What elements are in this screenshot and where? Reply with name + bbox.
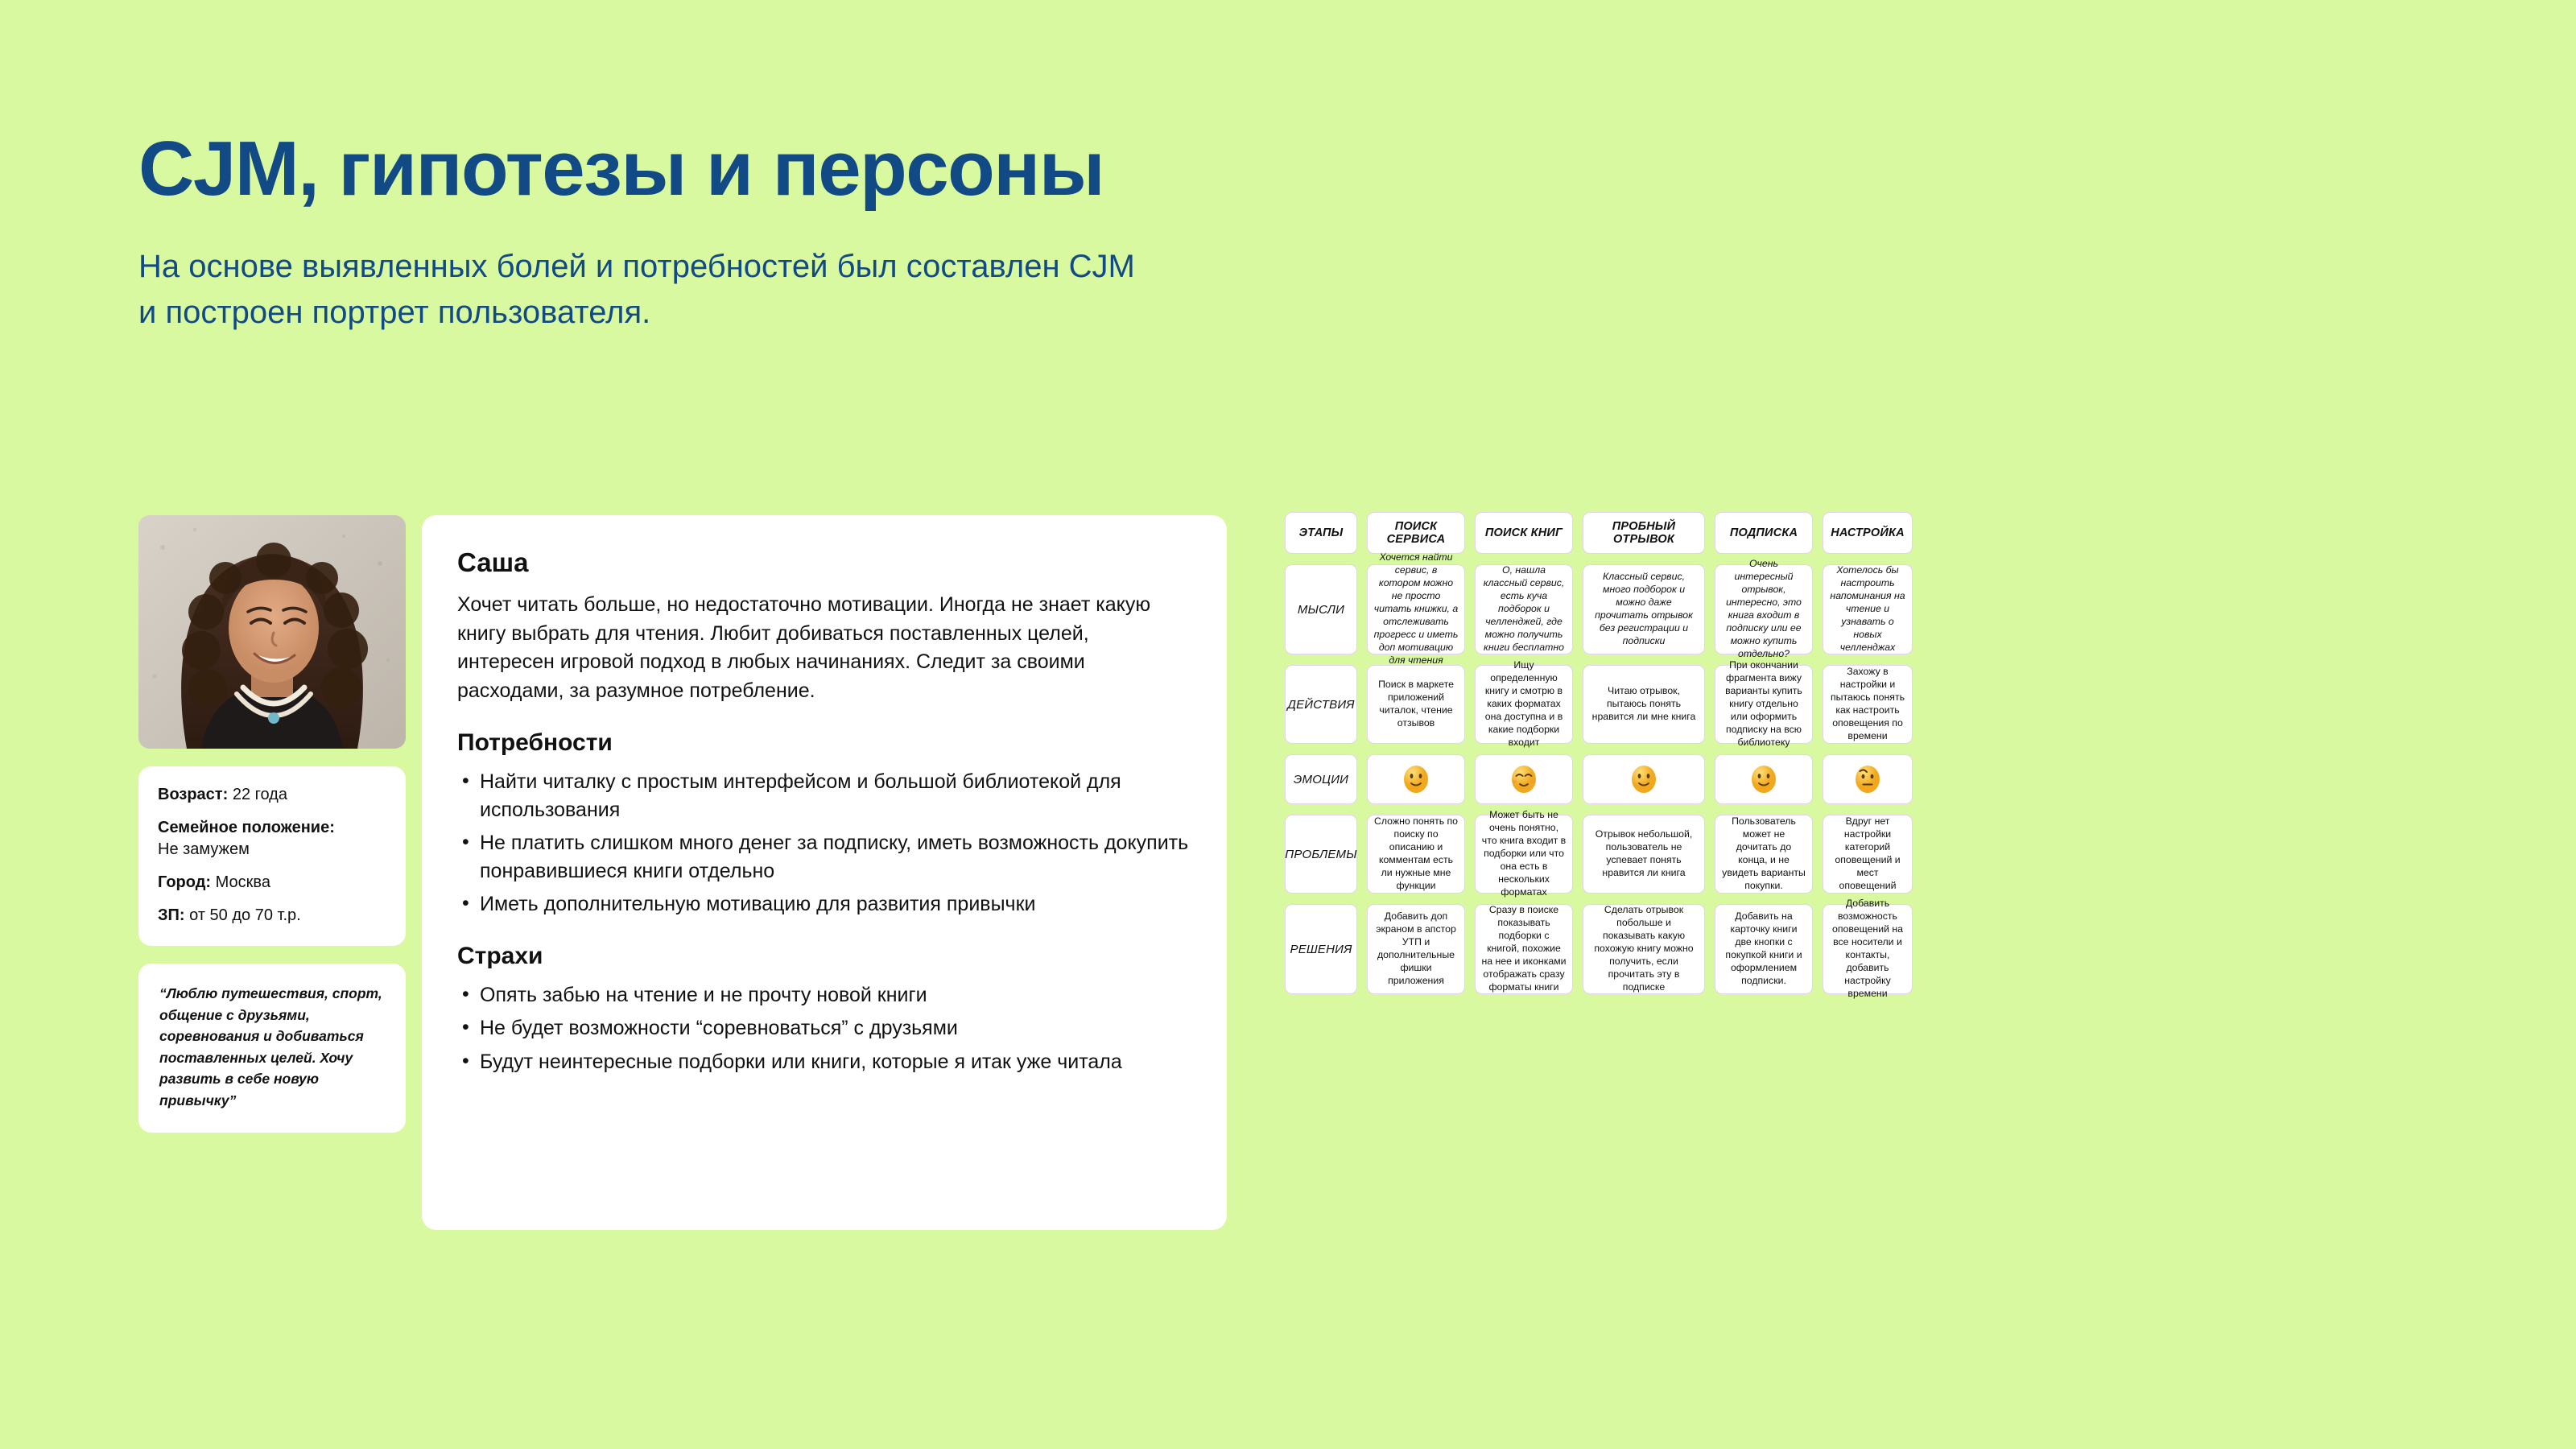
cjm-cell-solutions-3[interactable]: Добавить на карточку книги две кнопки с … [1715, 904, 1813, 994]
list-item: Опять забью на чтение и не прочту новой … [457, 981, 1191, 1009]
cjm-stage-3[interactable]: ПОДПИСКА [1715, 512, 1813, 554]
header: CJM, гипотезы и персоны На основе выявле… [138, 129, 1829, 335]
cjm-cell-emotions-4[interactable] [1823, 754, 1913, 804]
cjm-cell-emotions-1[interactable] [1475, 754, 1573, 804]
cjm-cell-problems-2[interactable]: Отрывок небольшой, пользователь не успев… [1583, 815, 1705, 894]
cjm-cell-actions-0[interactable]: Поиск в маркете приложений читалок, чтен… [1367, 665, 1465, 744]
list-item: Иметь дополнительную мотивацию для разви… [457, 890, 1191, 919]
fact-salary: ЗП: от 50 до 70 т.р. [158, 905, 386, 927]
cjm-cell-emotions-2[interactable] [1583, 754, 1705, 804]
cjm-cell-problems-4[interactable]: Вдруг нет настройки категорий оповещений… [1823, 815, 1913, 894]
relieved-face-icon [1508, 763, 1540, 795]
slightly-smiling-face-icon [1628, 763, 1660, 795]
list-item: Найти читалку с простым интерфейсом и бо… [457, 768, 1191, 824]
cjm-row-label-thoughts: МЫСЛИ [1285, 564, 1357, 654]
persona-sidebar: Возраст: 22 года Семейное положение: Не … [138, 515, 406, 1133]
subtitle-line-1: На основе выявленных болей и потребносте… [138, 244, 1829, 290]
cjm-cell-actions-4[interactable]: Захожу в настройки и пытаюсь понять как … [1823, 665, 1913, 744]
persona-card: Саша Хочет читать больше, но недостаточн… [422, 515, 1227, 1230]
slide-root: CJM, гипотезы и персоны На основе выявле… [0, 0, 2576, 1449]
fact-city-value: Москва [216, 873, 270, 891]
persona-name: Саша [457, 547, 1191, 578]
fact-age: Возраст: 22 года [158, 784, 386, 806]
cjm-cell-emotions-0[interactable] [1367, 754, 1465, 804]
cjm-cell-thoughts-1[interactable]: О, нашла классный сервис, есть куча подб… [1475, 564, 1573, 654]
cjm-cell-solutions-2[interactable]: Сделать отрывок побольше и показывать ка… [1583, 904, 1705, 994]
cjm-row-label-emotions: ЭМОЦИИ [1285, 754, 1357, 804]
fact-salary-label: ЗП: [158, 906, 185, 924]
cjm-stage-0[interactable]: ПОИСК СЕРВИСА [1367, 512, 1465, 554]
cjm-cell-actions-2[interactable]: Читаю отрывок, пытаюсь понять нравится л… [1583, 665, 1705, 744]
cjm-cell-thoughts-0[interactable]: Хочется найти сервис, в котором можно не… [1367, 564, 1465, 654]
persona-photo [138, 515, 406, 749]
fact-marital-status-value: Не замужем [158, 840, 250, 858]
cjm-cell-problems-0[interactable]: Сложно понять по поиску по описанию и ко… [1367, 815, 1465, 894]
cjm-cell-solutions-1[interactable]: Сразу в поиске показывать подборки с кни… [1475, 904, 1573, 994]
cjm-stage-4[interactable]: НАСТРОЙКА [1823, 512, 1913, 554]
cjm-cell-solutions-0[interactable]: Добавить доп экраном в апстор УТП и допо… [1367, 904, 1465, 994]
cjm-grid: ЭТАПЫ ПОИСК СЕРВИСА ПОИСК КНИГ ПРОБНЫЙ О… [1285, 512, 2460, 994]
list-item: Не будет возможности “соревноваться” с д… [457, 1014, 1191, 1042]
face-with-raised-eyebrow-icon [1851, 763, 1884, 795]
needs-list: Найти читалку с простым интерфейсом и бо… [457, 768, 1191, 919]
fears-heading: Страхи [457, 943, 1191, 970]
fact-marital-status-label: Семейное положение: [158, 819, 335, 836]
cjm-cell-problems-3[interactable]: Пользователь может не дочитать до конца,… [1715, 815, 1813, 894]
cjm-cell-thoughts-4[interactable]: Хотелось бы настроить напоминания на чте… [1823, 564, 1913, 654]
persona-facts: Возраст: 22 года Семейное положение: Не … [138, 766, 406, 946]
fact-salary-value: от 50 до 70 т.р. [189, 906, 301, 924]
fact-age-label: Возраст: [158, 786, 228, 803]
cjm-stage-2[interactable]: ПРОБНЫЙ ОТРЫВОК [1583, 512, 1705, 554]
persona-description: Хочет читать больше, но недостаточно мот… [457, 591, 1191, 705]
fact-city: Город: Москва [158, 872, 386, 894]
slightly-smiling-face-icon [1400, 763, 1432, 795]
cjm-cell-actions-1[interactable]: Ищу определенную книгу и смотрю в каких … [1475, 665, 1573, 744]
cjm-cell-thoughts-3[interactable]: Очень интересный отрывок, интересно, это… [1715, 564, 1813, 654]
cjm-cell-thoughts-2[interactable]: Классный сервис, много подборок и можно … [1583, 564, 1705, 654]
cjm-stage-1[interactable]: ПОИСК КНИГ [1475, 512, 1573, 554]
cjm-row-label-solutions: РЕШЕНИЯ [1285, 904, 1357, 994]
page-subtitle: На основе выявленных болей и потребносте… [138, 244, 1829, 336]
cjm-cell-emotions-3[interactable] [1715, 754, 1813, 804]
cjm-cell-problems-1[interactable]: Может быть не очень понятно, что книга в… [1475, 815, 1573, 894]
cjm-cell-solutions-4[interactable]: Добавить возможность оповещений на все н… [1823, 904, 1913, 994]
persona-quote: “Люблю путешествия, спорт, общение с дру… [138, 964, 406, 1133]
cjm-corner-label: ЭТАПЫ [1285, 512, 1357, 554]
avatar-illustration [138, 515, 406, 749]
fact-age-value: 22 года [233, 786, 287, 803]
fact-marital-status: Семейное положение: Не замужем [158, 817, 386, 861]
slightly-smiling-face-icon [1748, 763, 1780, 795]
list-item: Не платить слишком много денег за подпис… [457, 829, 1191, 885]
page-title: CJM, гипотезы и персоны [138, 129, 1829, 210]
list-item: Будут неинтересные подборки или книги, к… [457, 1048, 1191, 1076]
fears-list: Опять забью на чтение и не прочту новой … [457, 981, 1191, 1076]
cjm-row-label-actions: ДЕЙСТВИЯ [1285, 665, 1357, 744]
subtitle-line-2: и построен портрет пользователя. [138, 290, 1829, 336]
needs-heading: Потребности [457, 729, 1191, 757]
cjm-cell-actions-3[interactable]: При окончании фрагмента вижу варианты ку… [1715, 665, 1813, 744]
fact-city-label: Город: [158, 873, 211, 891]
cjm-row-label-problems: ПРОБЛЕМЫ [1285, 815, 1357, 894]
